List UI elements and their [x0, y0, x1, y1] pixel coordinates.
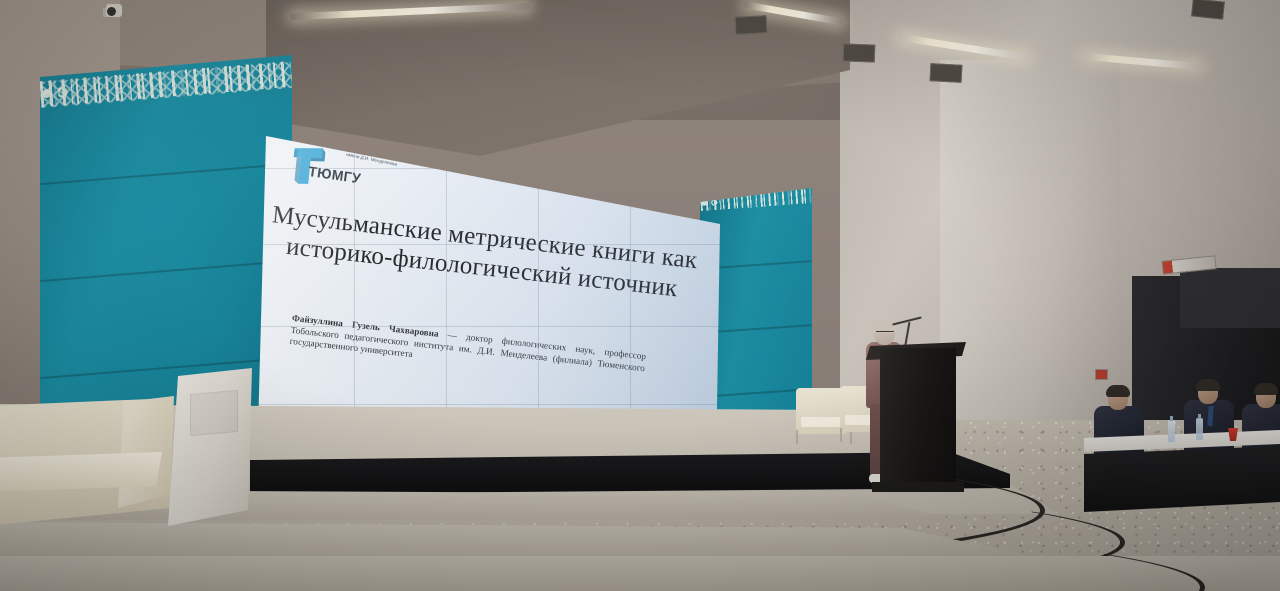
panelist-hair: [1196, 379, 1220, 391]
speaker-podium[interactable]: [880, 348, 956, 490]
ceiling-vent-icon: [735, 15, 768, 35]
university-logo: ТЮМГУ Тобольский педагогический институт…: [288, 140, 432, 207]
led-panel-seam: [258, 168, 720, 169]
author-credentials: — доктор филологических наук, профессор …: [289, 324, 646, 372]
panelist-hair: [1254, 383, 1278, 395]
fire-alarm-icon: [1095, 369, 1108, 380]
slide-author-block: Файзуллина Гузель Чахваровна — доктор фи…: [289, 313, 646, 386]
water-bottle-icon[interactable]: [1168, 420, 1175, 442]
panel-seam: [40, 357, 291, 379]
security-camera-icon: [106, 4, 122, 17]
ornament-border: [700, 188, 812, 211]
panel-table-skirt: [1084, 446, 1280, 512]
sofa-armrest: [118, 396, 174, 508]
white-lectern[interactable]: [168, 368, 252, 526]
ceiling-vent-icon: [930, 63, 963, 83]
led-panel-seam: [258, 244, 720, 245]
ceiling-vent-icon: [1191, 0, 1225, 20]
podium-base: [872, 482, 964, 492]
led-panel-seam: [258, 404, 720, 405]
led-panel-seam: [258, 326, 720, 327]
decorative-teal-panel-left: [40, 55, 292, 455]
water-bottle-icon[interactable]: [1196, 418, 1203, 440]
auditorium-photo-scene: ТЮМГУ Тобольский педагогический институт…: [0, 0, 1280, 591]
panelist-hair: [1106, 385, 1130, 397]
sofa-seat-cushion: [0, 452, 162, 492]
panel-seam: [40, 163, 291, 185]
dark-doorway-upper: [1180, 268, 1280, 328]
slide-title: Мусульманские метрические книги как исто…: [268, 200, 699, 306]
ceiling-vent-icon: [843, 43, 876, 62]
panel-seam: [40, 260, 291, 282]
eyeglasses-icon: [876, 331, 894, 336]
